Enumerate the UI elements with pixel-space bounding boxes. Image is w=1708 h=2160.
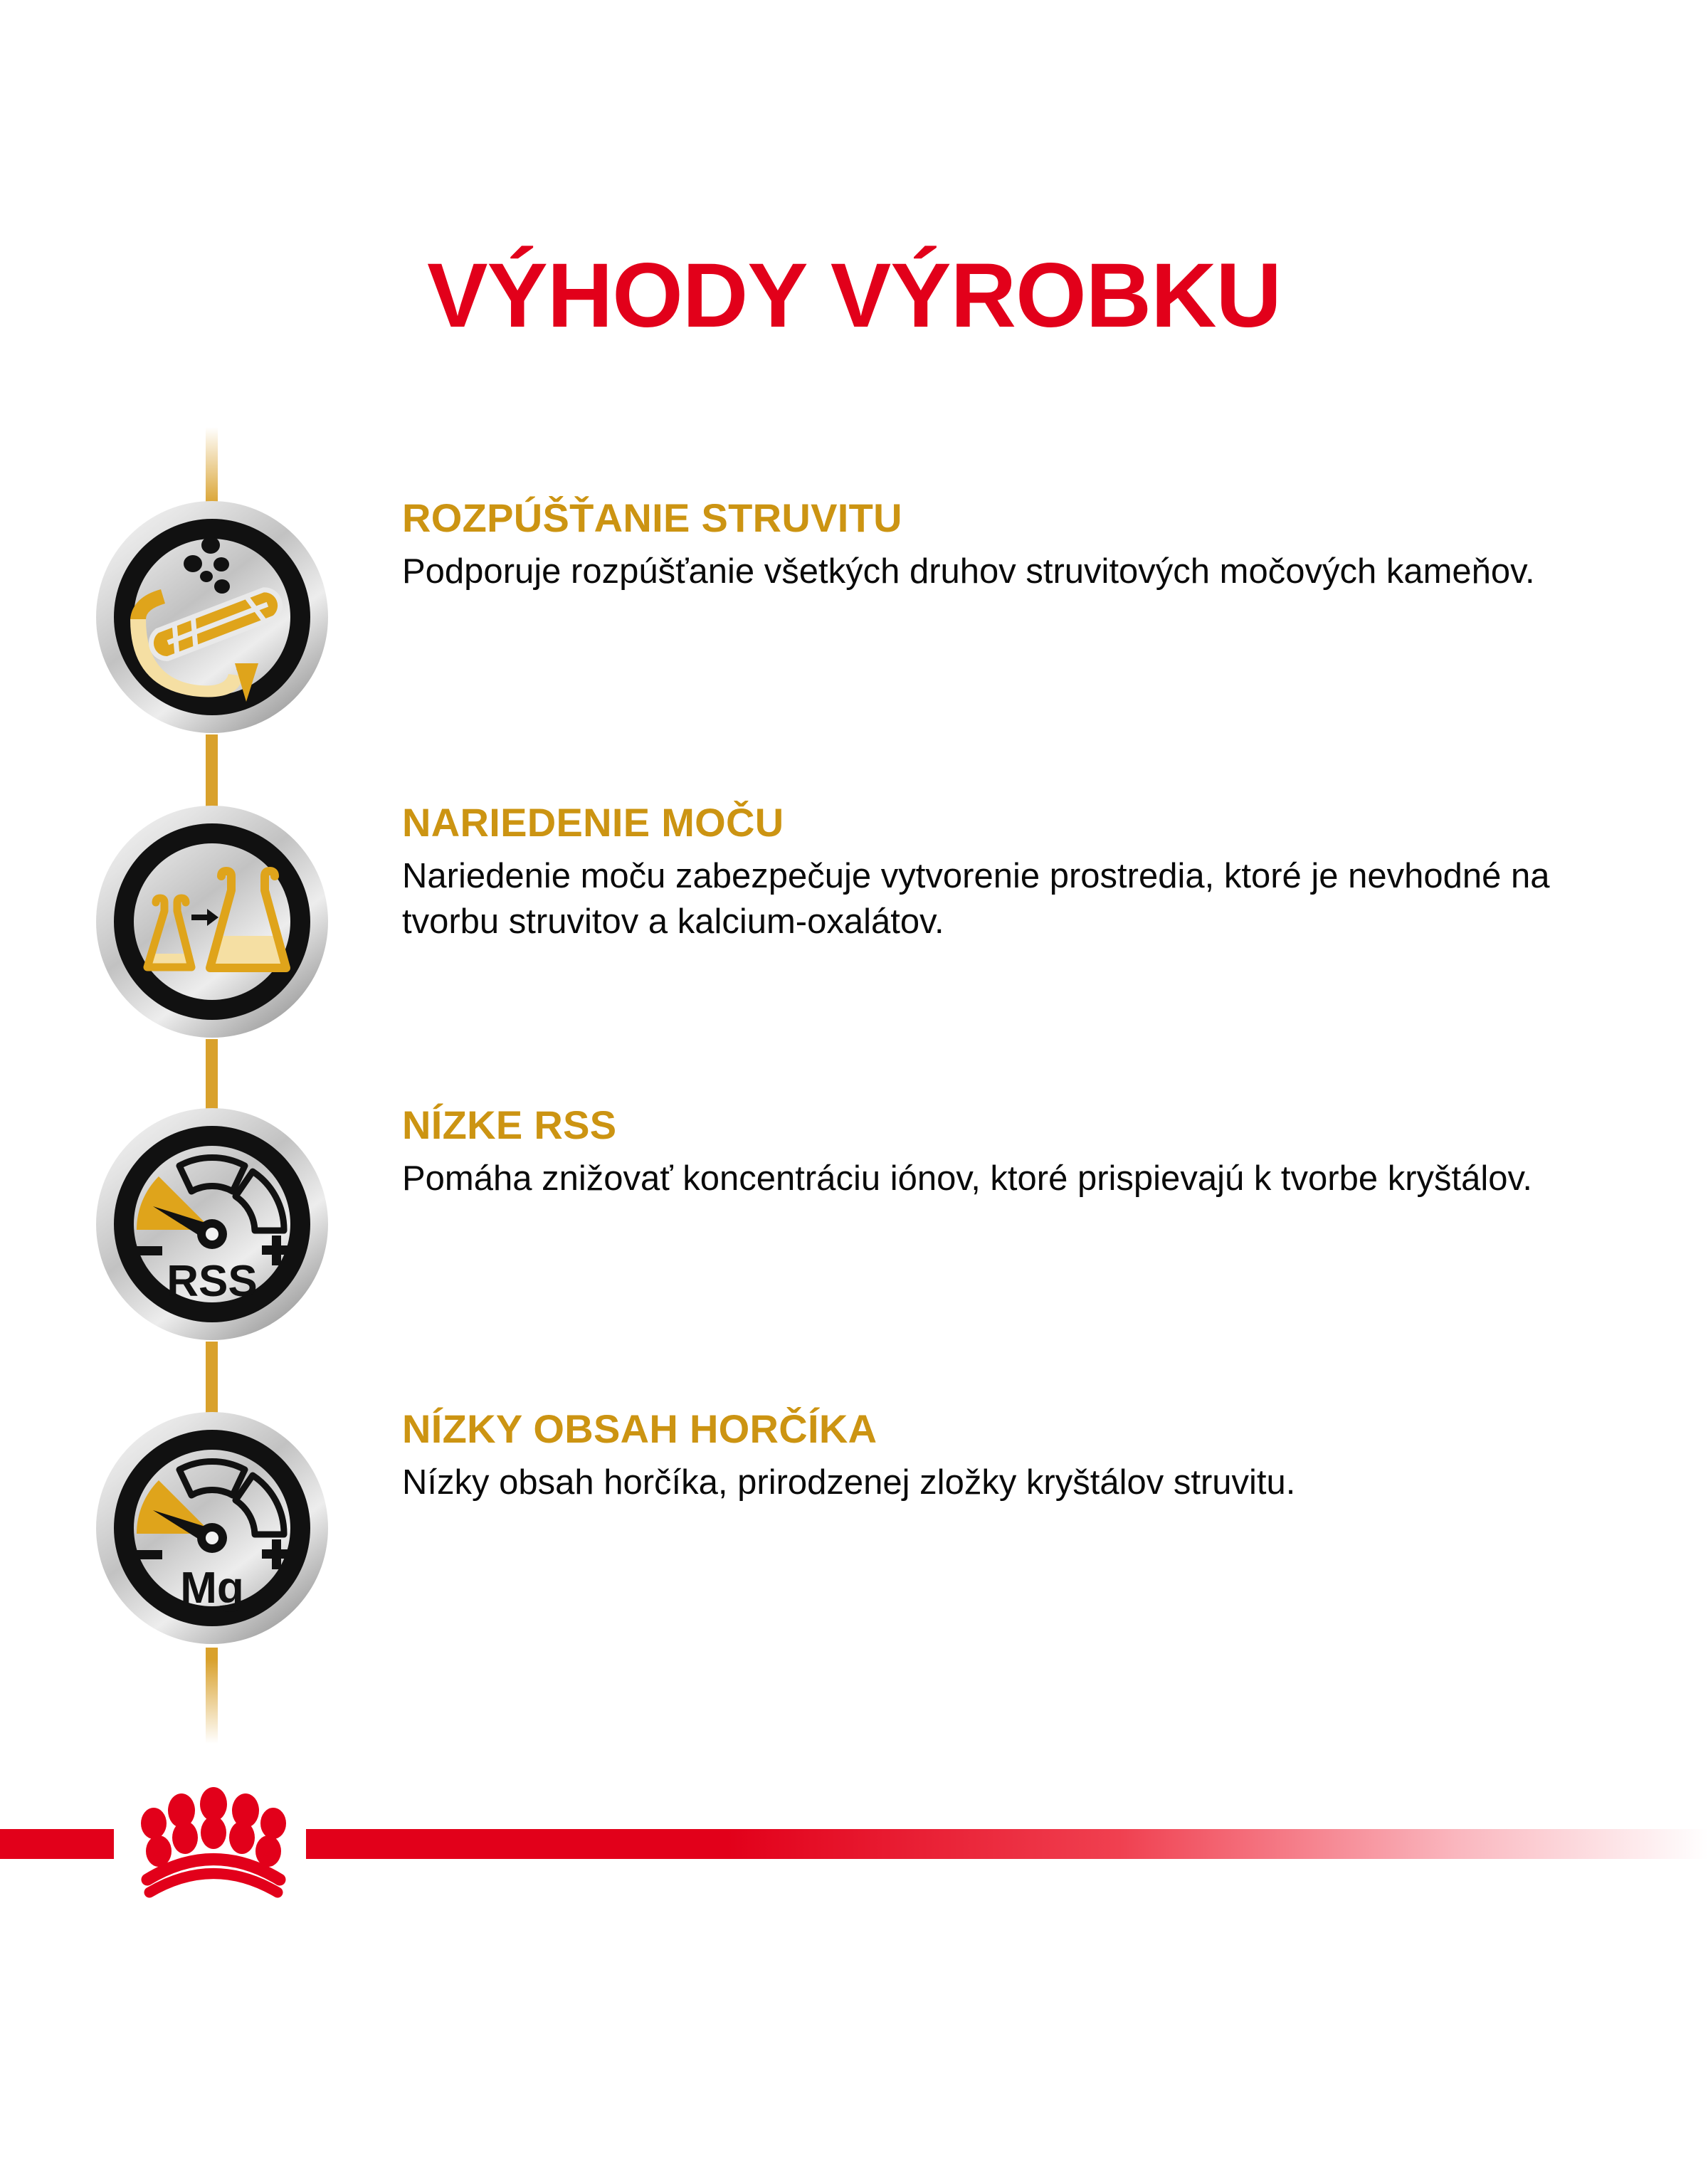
benefit-description: Nízky obsah horčíka, prirodzenej zložky … — [402, 1460, 1626, 1506]
footer-bar-left — [0, 1829, 114, 1859]
benefit-description: Pomáha znižovať koncentráciu iónov, ktor… — [402, 1157, 1626, 1202]
footer-bar-right — [306, 1829, 1708, 1859]
benefit-description: Podporuje rozpúšťanie všetkých druhov st… — [402, 549, 1626, 595]
page-title: VÝHODY VÝROBKU — [0, 251, 1708, 342]
benefit-text-block: NÍZKE RSS Pomáha znižovať koncentráciu i… — [402, 1105, 1662, 1202]
gauge-label: RSS — [167, 1257, 257, 1306]
footer — [0, 1779, 1708, 1922]
urine-dilution-flasks-icon — [93, 803, 331, 1041]
benefit-heading: NARIEDENIE MOČU — [402, 803, 1662, 843]
benefit-heading: NÍZKE RSS — [402, 1105, 1662, 1145]
benefit-text-block: NÍZKY OBSAH HORČÍKA Nízky obsah horčíka,… — [402, 1409, 1662, 1506]
benefit-text-block: NARIEDENIE MOČU Nariedenie moču zabezpeč… — [402, 803, 1662, 944]
benefit-description: Nariedenie moču zabezpečuje vytvorenie p… — [402, 854, 1626, 944]
royal-canin-crown-logo — [107, 1779, 320, 1900]
benefit-heading: NÍZKY OBSAH HORČÍKA — [402, 1409, 1662, 1449]
struvite-dissolution-icon — [93, 498, 331, 736]
benefit-heading: ROZPÚŠŤANIE STRUVITU — [402, 498, 1662, 538]
connector-line-bottom — [206, 1648, 218, 1744]
gauge-label: Mg — [180, 1564, 244, 1613]
benefit-text-block: ROZPÚŠŤANIE STRUVITU Podporuje rozpúšťan… — [402, 498, 1662, 595]
rss-gauge-icon: RSS — [93, 1105, 331, 1343]
magnesium-gauge-icon: Mg — [93, 1409, 331, 1647]
